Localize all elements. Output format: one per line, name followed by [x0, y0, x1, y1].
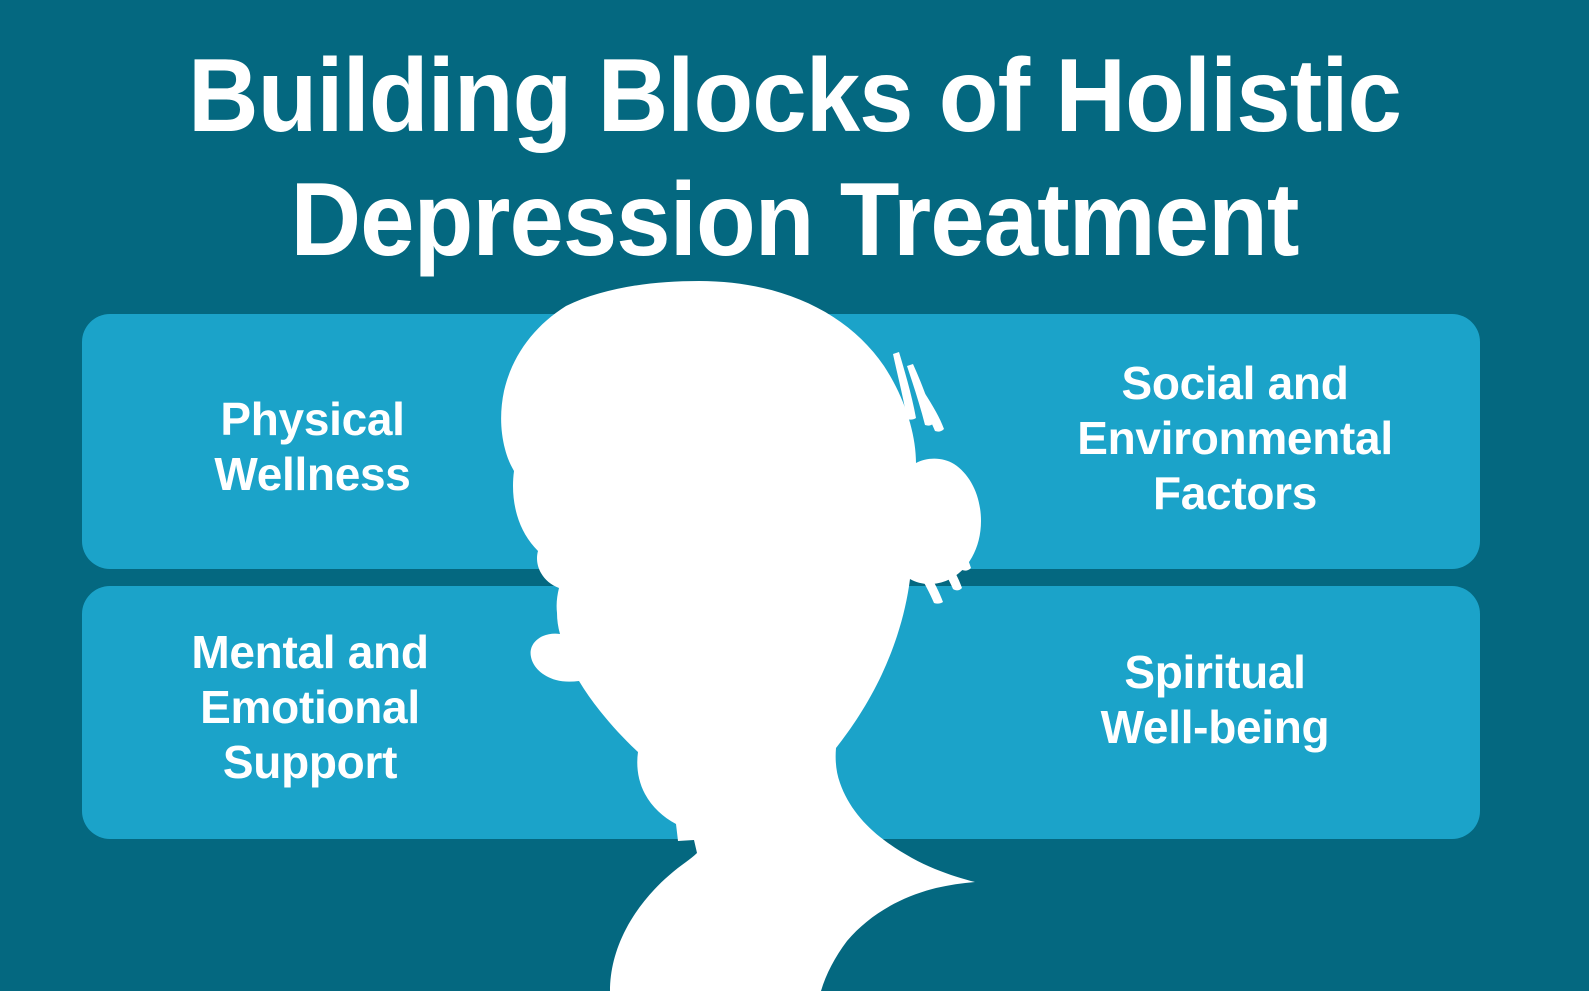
infographic-canvas: Building Blocks of Holistic Depression T… — [0, 0, 1589, 991]
card-label-physical-wellness: Physical Wellness — [120, 392, 505, 502]
card-label-mental-emotional: Mental and Emotional Support — [110, 625, 510, 790]
card-label-spiritual-wellbeing: Spiritual Well-being — [1000, 645, 1430, 755]
card-label-social-environmental: Social and Environmental Factors — [1000, 356, 1470, 521]
page-title: Building Blocks of Holistic Depression T… — [48, 34, 1542, 282]
